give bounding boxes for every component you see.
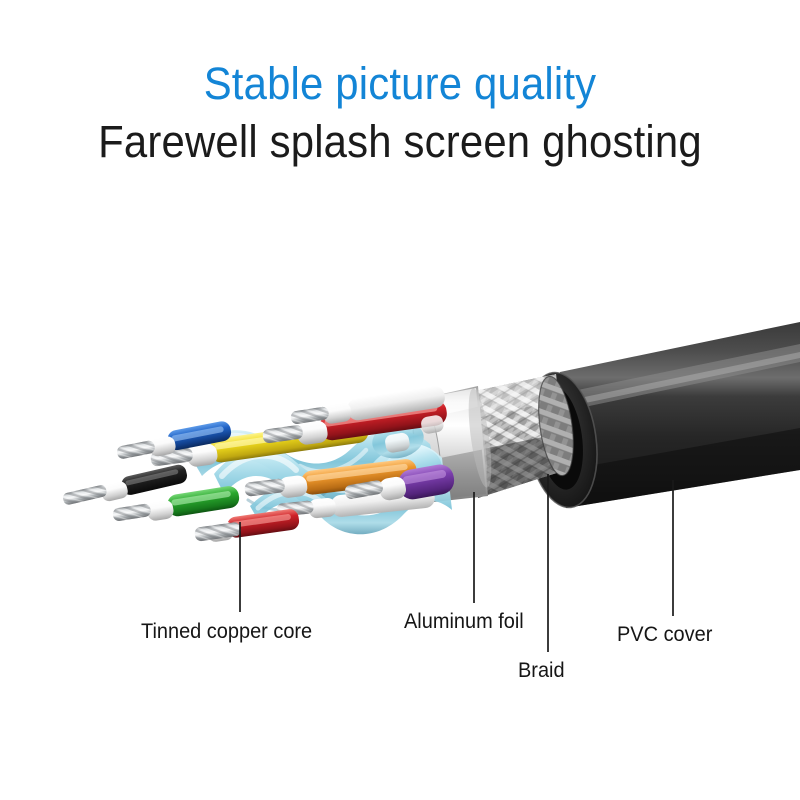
callout-label-tinned-copper-core: Tinned copper core: [141, 620, 312, 644]
twisted-pair-bundle: [62, 385, 456, 543]
callout-label-braid: Braid: [518, 659, 565, 683]
product-feature-image: Stable picture quality Farewell splash s…: [0, 0, 800, 800]
callout-label-pvc-cover: PVC cover: [617, 623, 712, 647]
cable-cutaway-illustration: [0, 0, 800, 800]
wire-red-front: [194, 508, 300, 543]
callout-label-aluminum-foil: Aluminum foil: [404, 610, 524, 634]
